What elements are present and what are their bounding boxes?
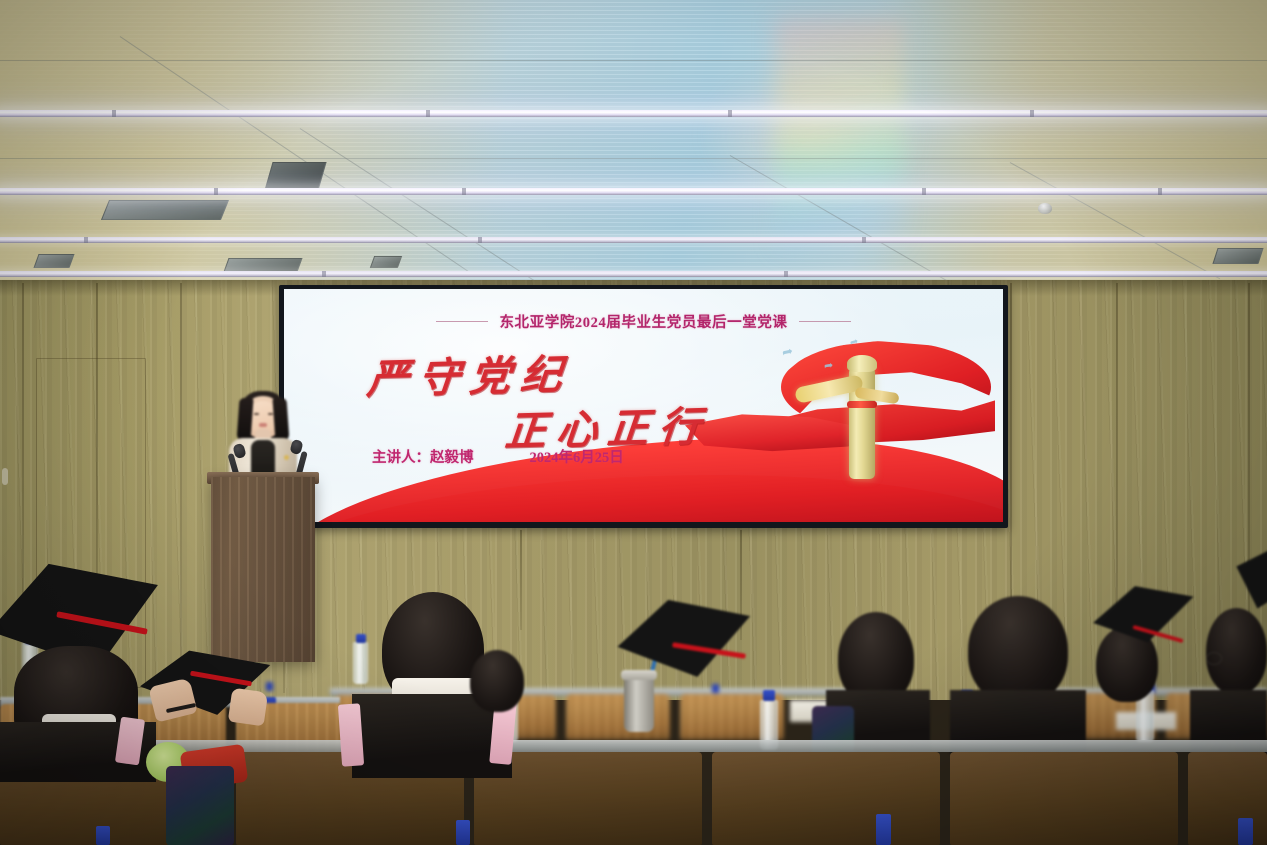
light-strip-joint — [728, 110, 732, 117]
bottle-cap[interactable] — [266, 682, 273, 691]
bottle-cap[interactable] — [876, 814, 891, 845]
light-strip-joint — [214, 188, 218, 195]
podium — [211, 477, 315, 662]
hvac-vent — [33, 254, 74, 268]
podium-grain — [211, 477, 315, 662]
dome-camera-icon — [1038, 203, 1052, 214]
student-head — [470, 650, 524, 712]
eyeglasses-icon — [1206, 652, 1222, 665]
header-rule-left — [436, 321, 488, 322]
speaker-hair-right — [272, 398, 289, 443]
ceiling-seam — [0, 60, 1267, 61]
hvac-vent — [101, 200, 229, 220]
lecture-hall-photo: ➦ ➦ ➦ 东北亚学院2024届毕业生党员最后一堂党课 严守党纪 正心正行 主讲… — [0, 0, 1267, 845]
bottle-cap[interactable] — [96, 826, 110, 845]
slide-header: 东北亚学院2024届毕业生党员最后一堂党课 — [284, 311, 1003, 332]
ceiling-light-strip — [0, 188, 1267, 195]
speaker-mouth — [259, 423, 267, 427]
ceiling-light-strip — [0, 271, 1267, 277]
hvac-vent — [223, 258, 302, 272]
ceiling-light-strip — [0, 110, 1267, 117]
light-strip-joint — [1158, 188, 1162, 195]
door-handle[interactable] — [2, 468, 8, 485]
light-strip-joint — [1030, 110, 1034, 117]
slide-speaker-label: 主讲人：赵毅博 — [372, 446, 474, 467]
wall-panel-seam — [520, 530, 522, 630]
floral-garment — [166, 766, 234, 845]
bottle-cap[interactable] — [456, 820, 470, 845]
light-strip-joint — [478, 237, 482, 243]
ceiling-seam — [0, 158, 1267, 159]
front-seat-back[interactable] — [712, 752, 940, 845]
light-strip-joint — [462, 188, 466, 195]
presentation-screen[interactable]: ➦ ➦ ➦ 东北亚学院2024届毕业生党员最后一堂党课 严守党纪 正心正行 主讲… — [284, 289, 1003, 522]
light-strip-joint — [84, 237, 88, 243]
light-strip-joint — [922, 188, 926, 195]
hvac-vent — [1212, 248, 1263, 264]
light-strip-joint — [112, 110, 116, 117]
speaker-lapel-pin — [284, 455, 289, 460]
bottle-cap[interactable] — [763, 690, 775, 701]
light-strip-joint — [322, 271, 326, 277]
bottle-cap[interactable] — [356, 634, 366, 643]
front-seat-back[interactable] — [1188, 752, 1267, 845]
slide-date: 2024年6月25日 — [530, 446, 624, 467]
hand — [228, 688, 268, 727]
front-seat-back[interactable] — [950, 752, 1178, 845]
ceiling-light-strip — [0, 237, 1267, 243]
water-bottle[interactable] — [353, 642, 368, 684]
student-head — [968, 596, 1068, 704]
wall-panel-seam — [180, 283, 182, 693]
bottle-cap[interactable] — [1238, 818, 1253, 845]
bottle-cap[interactable] — [712, 684, 719, 693]
slide-header-text: 东北亚学院2024届毕业生党员最后一堂党课 — [499, 311, 787, 332]
drink-cup[interactable] — [624, 676, 654, 732]
hvac-vent — [370, 256, 402, 268]
academic-hood — [338, 703, 364, 766]
speaker-eye-right — [268, 413, 273, 415]
student-head — [1206, 608, 1267, 694]
cup-lid[interactable] — [621, 670, 657, 680]
speaker-eye-left — [254, 413, 259, 415]
light-strip-joint — [784, 271, 788, 277]
light-strip-joint — [862, 237, 866, 243]
seat-back[interactable] — [566, 694, 670, 740]
slide-byline: 主讲人：赵毅博 2024年6月25日 — [372, 446, 624, 467]
header-rule-right — [799, 321, 851, 322]
light-strip-joint — [426, 110, 430, 117]
